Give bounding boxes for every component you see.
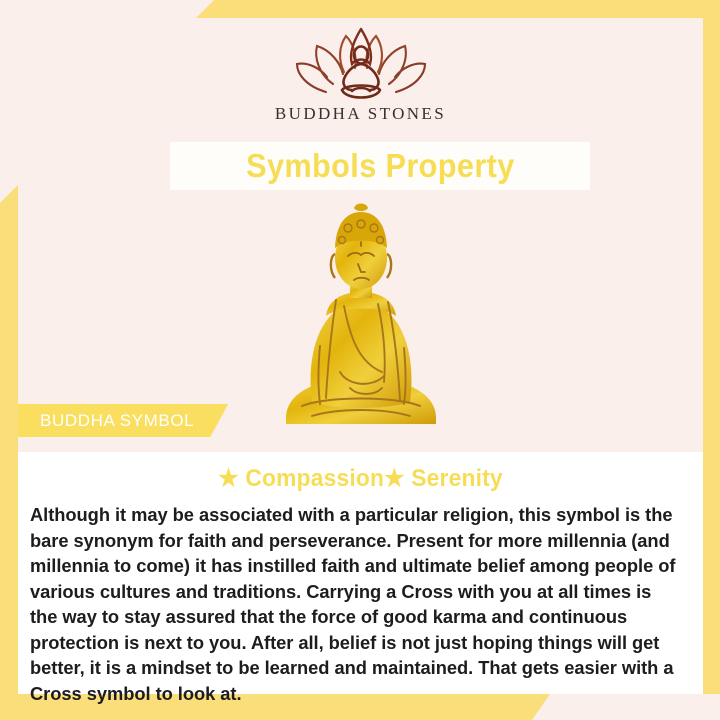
- lotus-meditation-icon: [286, 24, 436, 102]
- buddha-symbol-tag-label: BUDDHA SYMBOL: [40, 411, 194, 431]
- description-paragraph: Although it may be associated with a par…: [30, 502, 681, 706]
- description-card: ★ Compassion★ Serenity Although it may b…: [18, 452, 703, 694]
- decor-band-right: [702, 0, 720, 694]
- poster-canvas: BUDDHA STONES Symbols Property: [0, 0, 720, 720]
- attributes-headline: ★ Compassion★ Serenity: [35, 464, 686, 493]
- brand-block: BUDDHA STONES: [18, 24, 703, 124]
- upper-panel: BUDDHA STONES Symbols Property: [18, 18, 703, 452]
- brand-name: BUDDHA STONES: [275, 104, 446, 124]
- title-banner: Symbols Property: [170, 142, 590, 190]
- decor-band-left: [0, 185, 18, 720]
- page-title: Symbols Property: [246, 147, 515, 185]
- hero-image-wrap: [18, 196, 703, 428]
- buddha-symbol-tag: BUDDHA SYMBOL: [18, 404, 228, 437]
- decor-band-top: [196, 0, 720, 18]
- seated-golden-buddha-illustration: [266, 196, 456, 428]
